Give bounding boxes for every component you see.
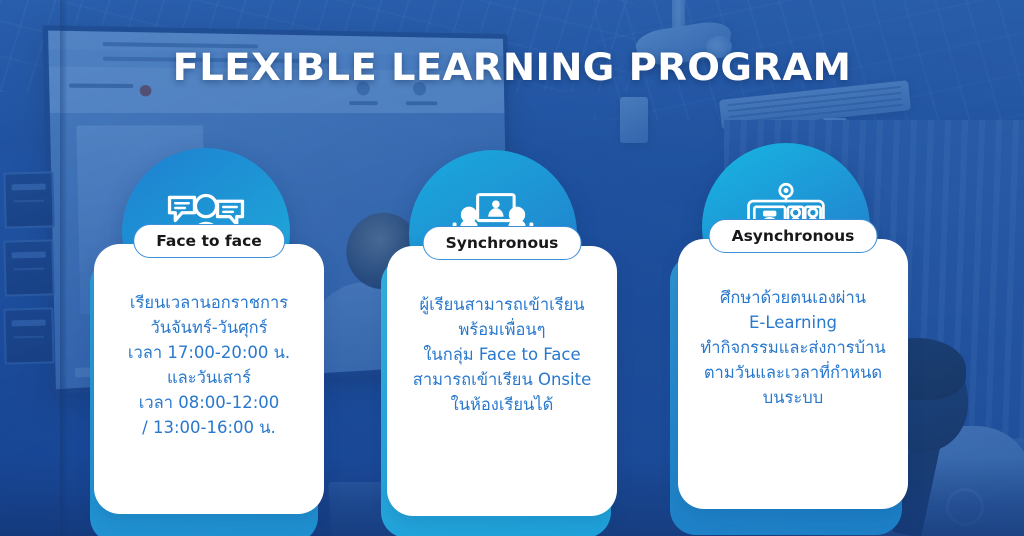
card-text-line: สามารถเข้าเรียน Onsite <box>397 367 607 392</box>
card-text-line: บนระบบ <box>688 385 898 410</box>
card-body-text: เรียนเวลานอกราชการ วันจันทร์-วันศุกร์ เว… <box>104 290 314 440</box>
card-label-pill: Asynchronous <box>709 219 878 253</box>
card-text-line: เวลา 17:00-20:00 น. <box>104 340 314 365</box>
card-text-line: / 13:00-16:00 น. <box>104 415 314 440</box>
card-text-line: และวันเสาร์ <box>104 365 314 390</box>
card-panel: Asynchronous ศึกษาด้วยตนเองผ่าน E-Learni… <box>678 239 908 509</box>
card-text-line: ศึกษาด้วยตนเองผ่าน <box>688 285 898 310</box>
card-text-line: E-Learning <box>688 310 898 335</box>
card-text-line: เวลา 08:00-12:00 <box>104 390 314 415</box>
card-text-line: ทำกิจกรรมและส่งการบ้าน <box>688 335 898 360</box>
card-text-line: วันจันทร์-วันศุกร์ <box>104 315 314 340</box>
card-body-text: ผู้เรียนสามารถเข้าเรียน พร้อมเพื่อนๆ ในก… <box>397 292 607 417</box>
card-panel: Face to face เรียนเวลานอกราชการ วันจันทร… <box>94 244 324 514</box>
card-text-line: ตามวันและเวลาที่กำหนด <box>688 360 898 385</box>
card-text-line: ผู้เรียนสามารถเข้าเรียน <box>397 292 607 317</box>
card-label-pill: Face to face <box>133 224 285 258</box>
card-text-line: พร้อมเพื่อนๆ <box>397 317 607 342</box>
card-text-line: เรียนเวลานอกราชการ <box>104 290 314 315</box>
card-panel: Synchronous ผู้เรียนสามารถเข้าเรียน พร้อ… <box>387 246 617 516</box>
card-body-text: ศึกษาด้วยตนเองผ่าน E-Learning ทำกิจกรรมแ… <box>688 285 898 410</box>
card-text-line: ในห้องเรียนได้ <box>397 392 607 417</box>
card-row: Face to face เรียนเวลานอกราชการ วันจันทร… <box>0 0 1024 536</box>
card-label-pill: Synchronous <box>423 226 582 260</box>
infographic-canvas: FLEXIBLE LEARNING PROGRAM <box>0 0 1024 536</box>
card-text-line: ในกลุ่ม Face to Face <box>397 342 607 367</box>
